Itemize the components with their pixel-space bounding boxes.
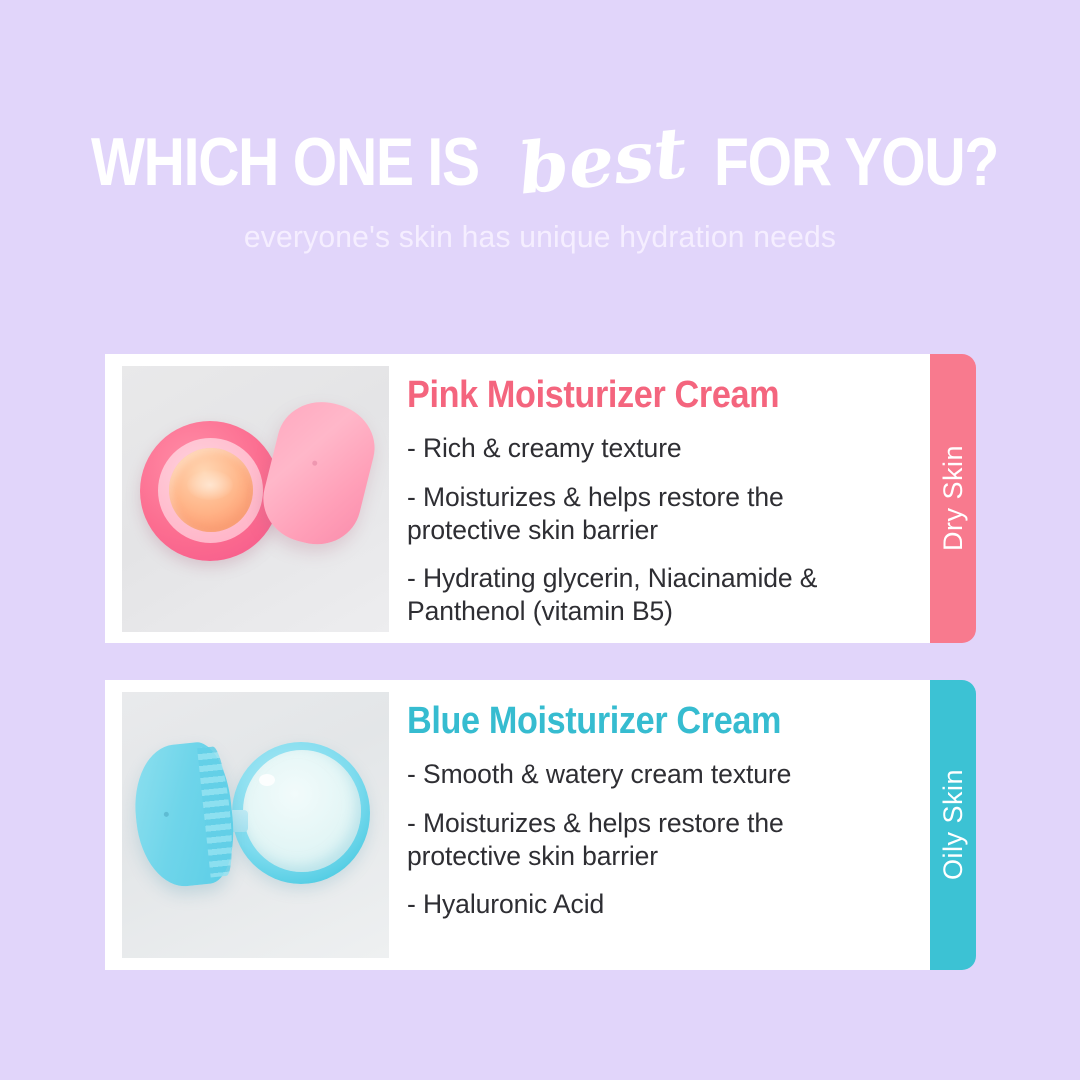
skin-type-tab-oily-label: Oily Skin xyxy=(938,769,969,880)
page-title: WHICH ONE IS best FOR YOU? xyxy=(0,126,1080,197)
title-text-before: WHICH ONE IS xyxy=(91,128,479,197)
product-feature-item: - Moisturizes & helps restore the protec… xyxy=(407,481,887,547)
page-subtitle: everyone's skin has unique hydration nee… xyxy=(16,219,1064,255)
product-feature-item: - Smooth & watery cream texture xyxy=(407,758,887,791)
blue-moisturizer-jar-photo xyxy=(122,692,389,958)
product-title-pink: Pink Moisturizer Cream xyxy=(407,376,878,416)
blue-cream-dome-icon xyxy=(243,750,361,872)
pink-cream-dome-icon xyxy=(169,448,253,532)
title-text-script: best xyxy=(515,117,690,204)
pink-moisturizer-jar-photo xyxy=(122,366,389,632)
blue-jar-lid-icon xyxy=(129,739,239,890)
product-title-blue: Blue Moisturizer Cream xyxy=(407,702,878,742)
title-text-after: FOR YOU? xyxy=(715,128,999,197)
skin-type-tab-oily[interactable]: Oily Skin xyxy=(930,680,976,970)
product-feature-item: - Hyaluronic Acid xyxy=(407,888,887,921)
product-feature-item: - Rich & creamy texture xyxy=(407,432,887,465)
product-feature-item: - Moisturizes & helps restore the protec… xyxy=(407,807,887,873)
product-card-pink[interactable]: Pink Moisturizer Cream - Rich & creamy t… xyxy=(105,354,930,643)
product-card-blue-body: Blue Moisturizer Cream - Smooth & watery… xyxy=(389,680,930,921)
product-card-blue[interactable]: Blue Moisturizer Cream - Smooth & watery… xyxy=(105,680,930,970)
skin-type-tab-dry[interactable]: Dry Skin xyxy=(930,354,976,643)
header: WHICH ONE IS best FOR YOU? everyone's sk… xyxy=(0,126,1080,255)
skin-type-tab-dry-label: Dry Skin xyxy=(938,445,969,551)
product-card-pink-body: Pink Moisturizer Cream - Rich & creamy t… xyxy=(389,354,930,628)
pink-jar-lid-icon xyxy=(254,392,383,553)
product-feature-item: - Hydrating glycerin, Niacinamide & Pant… xyxy=(407,562,887,628)
